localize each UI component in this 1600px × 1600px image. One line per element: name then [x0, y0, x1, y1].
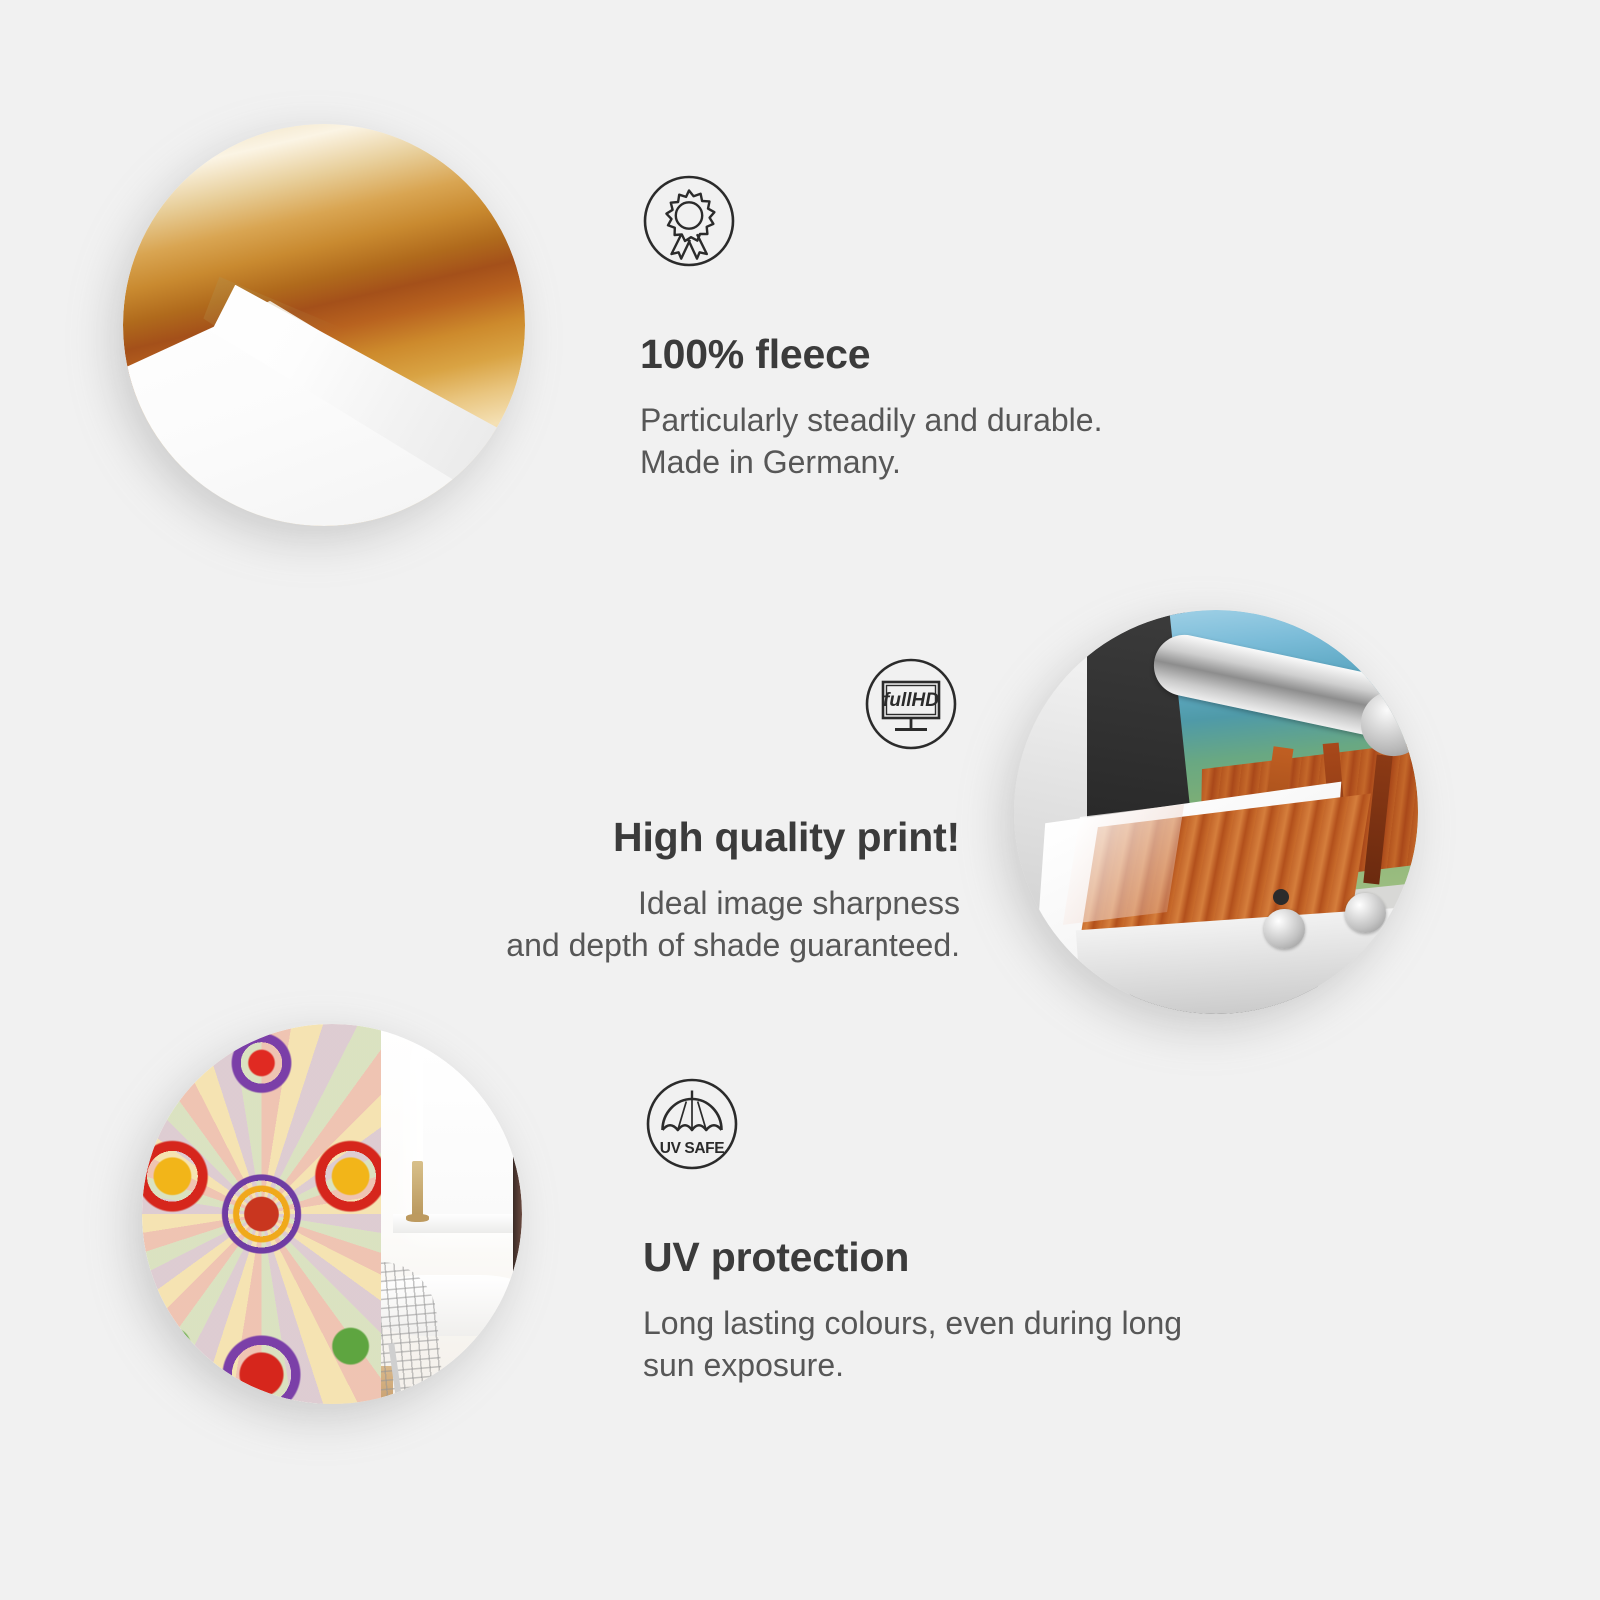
mandala-wallpaper-room-photo — [142, 1024, 522, 1404]
photo-clip — [123, 124, 525, 526]
svg-text:fullHD: fullHD — [883, 690, 939, 711]
wide-format-printer-photo — [1014, 610, 1418, 1014]
feature-infographic: 100% fleece Particularly steadily and du… — [0, 0, 1600, 1600]
printer-knob-left — [1264, 909, 1304, 949]
uv-safe-umbrella-icon: UV SAFE — [643, 1075, 741, 1173]
printer-knob-right — [1345, 893, 1385, 933]
feature-uv: UV SAFE UV protection Long lasting colou… — [643, 1075, 1182, 1387]
mandala-pattern — [142, 1024, 381, 1404]
award-ribbon-icon — [640, 172, 738, 270]
wallpaper-panel-edge — [513, 1024, 523, 1404]
peeling-fleece-wallpaper-photo — [123, 124, 525, 526]
feature-description: Ideal image sharpness and depth of shade… — [506, 882, 960, 966]
printer-bolt — [1273, 889, 1289, 905]
photo-clip — [142, 1024, 522, 1404]
feature-description: Particularly steadily and durable. Made … — [640, 399, 1102, 483]
svg-text:UV SAFE: UV SAFE — [660, 1140, 724, 1157]
candlestick-base — [406, 1214, 429, 1222]
feature-print: fullHD High quality print! Ideal image s… — [506, 655, 960, 967]
room-window — [423, 1047, 514, 1222]
fullhd-monitor-icon: fullHD — [862, 655, 960, 753]
feature-fleece: 100% fleece Particularly steadily and du… — [640, 172, 1102, 484]
mandala-wallpaper-panel — [142, 1024, 381, 1404]
feature-title: UV protection — [643, 1235, 1182, 1280]
feature-description: Long lasting colours, even during long s… — [643, 1302, 1182, 1386]
photo-clip — [1014, 610, 1418, 1014]
printer-output-highlight — [1062, 804, 1183, 925]
feature-title: High quality print! — [506, 815, 960, 860]
candlestick — [412, 1161, 423, 1218]
feature-title: 100% fleece — [640, 332, 1102, 377]
